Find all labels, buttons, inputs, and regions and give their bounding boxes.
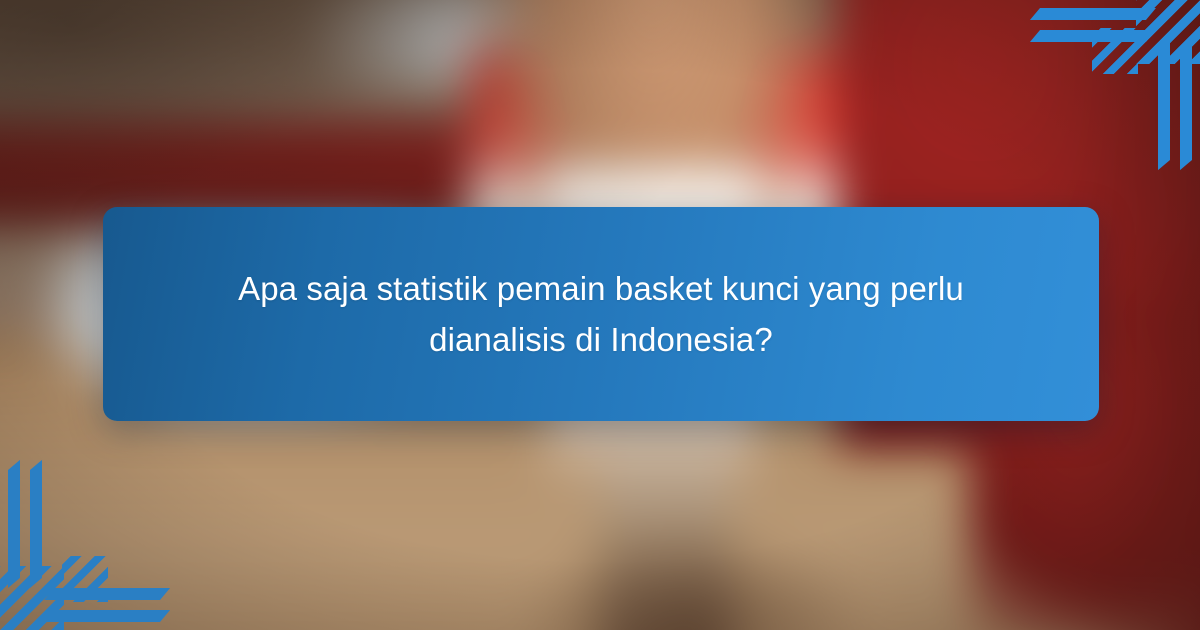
ornament-crosshatch-icon <box>1092 28 1138 74</box>
ornament-crosshatch-icon <box>1136 0 1200 64</box>
question-title: Apa saja statistik pemain basket kunci y… <box>221 263 981 365</box>
ornament-crosshatch-icon <box>62 556 108 602</box>
share-card-canvas: Apa saja statistik pemain basket kunci y… <box>0 0 1200 630</box>
ornament-crosshatch-icon <box>0 566 64 630</box>
bottom-left-corner-ornament <box>0 470 160 630</box>
question-card: Apa saja statistik pemain basket kunci y… <box>103 207 1099 421</box>
top-right-corner-ornament <box>1040 0 1200 160</box>
